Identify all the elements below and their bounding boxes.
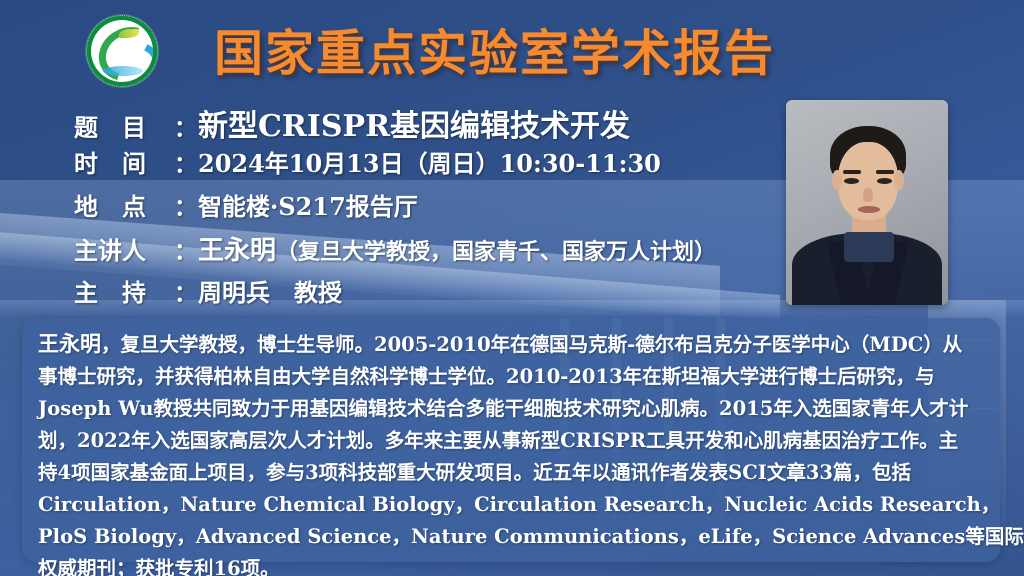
speaker-affiliation: （复旦大学教授，国家青千、国家万人计划）: [276, 239, 716, 265]
bio-line: PloS Biology，Advanced Science，Nature Com…: [38, 521, 986, 553]
bio-line-rest: ，复旦大学教授，博士生导师。2005-2010年在德国马克斯-德尔布吕克分子医学…: [101, 333, 962, 356]
poster-header: 国家重点实验室学术报告: [0, 0, 1024, 96]
portrait-ear-right: [894, 170, 904, 190]
bio-line: 划，2022年入选国家高层次人才计划。多年来主要从事新型CRISPR工具开发和心…: [38, 425, 986, 457]
bio-line: 事博士研究，并获得柏林自由大学自然科学博士学位。2010-2013年在斯坦福大学…: [38, 361, 986, 393]
page-title: 国家重点实验室学术报告: [214, 14, 775, 85]
detail-row-time: 时 间 ： 2024年10月13日（周日）10:30-11:30: [74, 144, 774, 187]
speaker-biography-panel: 王永明，复旦大学教授，博士生导师。2005-2010年在德国马克斯-德尔布吕克分…: [22, 318, 1000, 562]
value-topic: 新型CRISPR基因编辑技术开发: [198, 101, 630, 145]
portrait-eyebrow-left: [843, 170, 861, 174]
colon-location: ：: [172, 188, 198, 222]
detail-row-speaker: 主讲人 ： 王永明（复旦大学教授，国家青千、国家万人计划）: [74, 230, 774, 273]
detail-row-topic: 题 目 ： 新型CRISPR基因编辑技术开发: [74, 101, 774, 144]
bio-line: 持4项国家基金面上项目，参与3项科技部重大研发项目。近五年以通讯作者发表SCI文…: [38, 457, 986, 489]
value-host: 周明兵 教授: [198, 273, 342, 308]
bio-line: 王永明，复旦大学教授，博士生导师。2005-2010年在德国马克斯-德尔布吕克分…: [38, 328, 986, 361]
colon-topic: ：: [172, 109, 198, 143]
portrait-eye-left: [844, 178, 859, 184]
portrait-ear-left: [832, 170, 842, 190]
seminar-poster: 国家重点实验室学术报告 题 目 ： 新型CRISPR基因编辑技术开发 时 间 ：…: [0, 0, 1024, 576]
label-time: 时 间: [74, 144, 172, 179]
label-topic: 题 目: [74, 108, 172, 143]
value-time: 2024年10月13日（周日）10:30-11:30: [198, 144, 661, 179]
value-speaker: 王永明（复旦大学教授，国家青千、国家万人计划）: [198, 230, 716, 267]
portrait-eyebrow-right: [876, 170, 894, 174]
colon-host: ：: [172, 274, 198, 308]
logo-ring-lettering: [86, 15, 158, 87]
label-speaker: 主讲人: [74, 231, 172, 266]
portrait-nose: [863, 188, 873, 202]
speaker-portrait: [786, 100, 948, 305]
portrait-collar: [844, 232, 894, 262]
detail-row-location: 地 点 ： 智能楼·S217报告厅: [74, 187, 774, 230]
portrait-eye-right: [877, 178, 892, 184]
colon-time: ：: [172, 145, 198, 179]
label-host: 主 持: [74, 273, 172, 308]
label-location: 地 点: [74, 187, 172, 222]
bio-line: 权威期刊；获批专利16项。: [38, 553, 986, 576]
bio-line: Circulation，Nature Chemical Biology，Circ…: [38, 489, 986, 521]
seminar-details: 题 目 ： 新型CRISPR基因编辑技术开发 时 间 ： 2024年10月13日…: [74, 101, 774, 316]
value-location: 智能楼·S217报告厅: [198, 187, 418, 222]
speaker-name: 王永明: [198, 236, 276, 266]
laboratory-logo-icon: [86, 15, 158, 87]
bio-lead-name: 王永明: [38, 331, 101, 356]
colon-speaker: ：: [172, 232, 198, 266]
detail-row-host: 主 持 ： 周明兵 教授: [74, 273, 774, 316]
bio-line: Joseph Wu教授共同致力于用基因编辑技术结合多能干细胞技术研究心肌病。20…: [38, 393, 986, 425]
portrait-mouth: [858, 206, 880, 213]
